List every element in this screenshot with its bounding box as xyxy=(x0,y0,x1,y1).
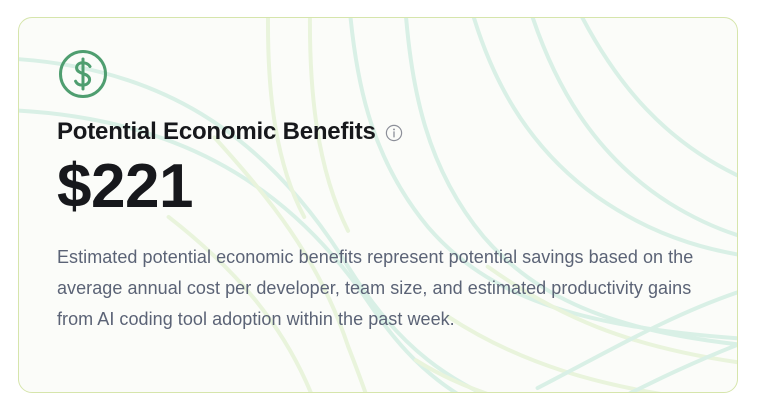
card-title-row: Potential Economic Benefits xyxy=(57,120,717,144)
card-description: Estimated potential economic benefits re… xyxy=(57,242,705,335)
card-content: Potential Economic Benefits $221 Estimat… xyxy=(57,48,717,335)
screen: Potential Economic Benefits $221 Estimat… xyxy=(0,0,766,410)
dollar-circle-icon xyxy=(57,48,109,100)
info-icon[interactable] xyxy=(385,124,403,142)
metric-value: $221 xyxy=(57,156,717,218)
potential-economic-benefits-card: Potential Economic Benefits $221 Estimat… xyxy=(18,17,738,393)
page-title: Potential Economic Benefits xyxy=(57,120,376,144)
